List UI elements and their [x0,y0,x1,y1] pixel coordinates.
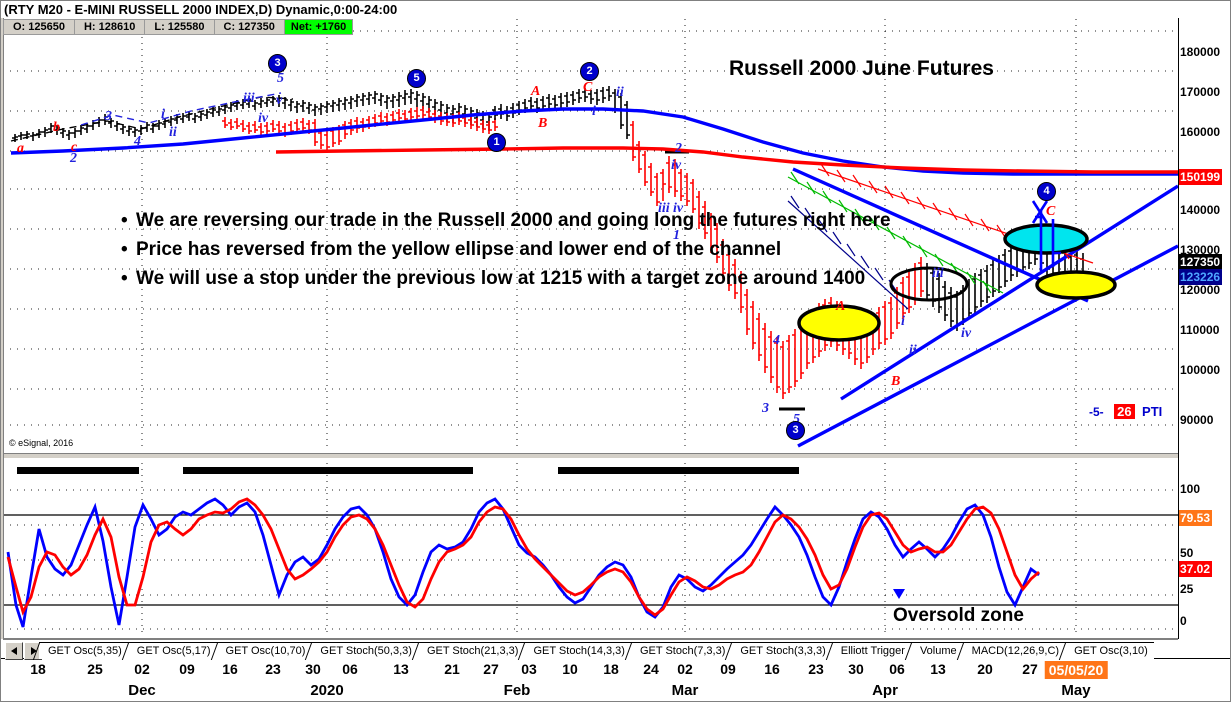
open-value: O: 125650 [4,20,75,34]
price-tick: 110000 [1180,324,1219,336]
oscillator-tick: 50 [1180,547,1193,559]
month-label: Apr [872,682,898,699]
chart-headline: Russell 2000 June Futures [729,57,994,81]
signal-bars [17,467,799,474]
indicator-tab-label: GET Stoch(3,3,3) [740,645,825,657]
elliott-wave-label: i [161,107,165,123]
indicator-tab[interactable]: GET Stoch(7,3,3) [631,642,731,659]
indicator-tab[interactable]: GET Osc(10,70) [217,642,312,659]
date-tick: 25 [87,661,103,677]
price-tick: 180000 [1180,46,1220,58]
price-highlight: 127350 [1178,254,1222,270]
indicator-tab-label: GET Stoch(21,3,3) [427,645,519,657]
commentary-bullet-3: We will use a stop under the previous lo… [136,265,891,293]
date-tick: 24 [643,661,659,677]
date-tick: 21 [444,661,460,677]
month-label: Feb [504,682,531,699]
indicator-tab-label: GET Stoch(14,3,3) [533,645,625,657]
month-label: Mar [672,682,699,699]
cyan-ellipse-target [1005,225,1087,253]
elliott-degree-marker: 4 [1037,182,1056,201]
indicator-tab-label: Elliott Trigger [841,645,905,657]
date-tick: 20 [977,661,993,677]
month-label: Dec [128,682,156,699]
elliott-wave-label: 3 [105,109,112,125]
elliott-wave-label: 4 [134,134,141,150]
high-value: H: 128610 [75,20,145,34]
panel-separator [3,453,1178,459]
date-tick: 02 [134,661,150,677]
elliott-degree-marker: 3 [786,421,805,440]
indicator-tab[interactable]: GET Stoch(14,3,3) [524,642,631,659]
indicator-tab-label: MACD(12,26,9,C) [972,645,1059,657]
price-tick: 90000 [1180,414,1213,426]
price-tick: 100000 [1180,364,1220,376]
date-tick: 09 [720,661,736,677]
date-tick: 23 [265,661,281,677]
net-change-badge: Net: +1760 [285,20,352,34]
date-tick: 13 [393,661,409,677]
date-tick: 16 [222,661,238,677]
price-tick: 120000 [1180,284,1220,296]
left-gutter [1,1,4,639]
date-tick: 18 [603,661,619,677]
elliott-wave-label: i [592,104,596,120]
date-tick: 06 [889,661,905,677]
ohlc-quote-bar: O: 125650 H: 128610 L: 125580 C: 127350 … [3,19,353,35]
indicator-tabs[interactable]: GET Osc(5,35)GET Osc(5,17)GET Osc(10,70)… [39,642,1154,659]
elliott-wave-label: iii [932,266,944,282]
oscillator-tick: 25 [1180,583,1193,595]
indicator-tab[interactable]: Volume [911,642,963,659]
date-tick: 16 [764,661,780,677]
date-tick: 30 [305,661,321,677]
elliott-wave-label: C [583,80,592,96]
elliott-wave-label: 2 [70,151,77,167]
elliott-wave-label: b [53,120,60,136]
oscillator-bottom-border [3,638,1178,640]
pti-indicator: -5- 26 PTI [1089,403,1162,421]
date-tick: 27 [483,661,499,677]
elliott-wave-label: iii [243,91,255,107]
oscillator-highlight: 37.02 [1178,561,1212,577]
elliott-wave-label: a [17,141,24,157]
elliott-wave-label: iv [671,158,681,174]
date-tick: 10 [562,661,578,677]
oscillator-highlight: 79.53 [1178,510,1212,526]
price-highlight: 150199 [1178,169,1222,185]
pti-left-label: -5- [1089,405,1104,419]
pti-label: PTI [1142,404,1162,419]
oscillator-tick: 100 [1180,483,1200,495]
trade-commentary: We are reversing our trade in the Russel… [119,207,891,294]
indicator-tab[interactable]: GET Stoch(21,3,3) [418,642,525,659]
indicator-tab-label: GET Osc(10,70) [226,645,306,657]
indicator-tab[interactable]: GET Osc(5,17) [128,642,217,659]
month-label: 2020 [310,682,343,699]
date-tick: 30 [848,661,864,677]
elliott-wave-label: iv [258,111,268,127]
price-scale[interactable]: 1900001800001700001600001400001300001200… [1178,1,1231,453]
elliott-wave-label: 4 [773,333,780,349]
pti-value: 26 [1114,404,1134,419]
indicator-tab[interactable]: GET Stoch(3,3,3) [731,642,831,659]
indicator-tab-label: GET Osc(3,10) [1074,645,1148,657]
date-axis: 1825020916233006132127031018240209162330… [1,660,1231,702]
elliott-wave-label: 2 [675,141,682,157]
price-tick: 160000 [1180,126,1220,138]
close-value: C: 127350 [215,20,285,34]
date-tick: 18 [30,661,46,677]
date-tick: 02 [677,661,693,677]
indicator-tab-label: GET Stoch(50,3,3) [320,645,412,657]
date-tick: 23 [808,661,824,677]
elliott-wave-label: A [836,299,845,315]
price-tick: 140000 [1180,204,1220,216]
elliott-wave-label: ii [169,125,177,141]
elliott-wave-label: A [531,84,540,100]
elliott-wave-label: ii [616,85,624,101]
chart-application: (RTY M20 - E-MINI RUSSELL 2000 INDEX,D) … [0,0,1231,702]
elliott-wave-label: v [276,93,282,109]
left-arrow-icon [11,647,18,655]
price-highlight: 123226 [1178,269,1222,285]
indicator-tab-label: GET Osc(5,17) [137,645,211,657]
price-tick: 170000 [1180,86,1220,98]
indicator-tab-label: Volume [920,645,957,657]
indicator-tab[interactable]: Elliott Trigger [832,642,911,659]
copyright-watermark: © eSignal, 2016 [9,438,73,448]
elliott-degree-marker: 3 [268,54,287,73]
elliott-wave-label: 3 [762,401,769,417]
indicator-tab[interactable]: GET Stoch(50,3,3) [311,642,418,659]
elliott-wave-label: i [901,314,905,330]
commentary-bullet-2: Price has reversed from the yellow ellip… [136,236,891,264]
chart-title-bar: (RTY M20 - E-MINI RUSSELL 2000 INDEX,D) … [1,1,1231,18]
elliott-wave-label: C [1046,204,1055,220]
oversold-zone-label: Oversold zone [893,605,1024,627]
elliott-wave-label: B [891,374,900,390]
date-tick: 13 [930,661,946,677]
indicator-tab[interactable]: GET Osc(5,35) [39,642,128,659]
date-tick: 03 [521,661,537,677]
axis-divider [1178,1,1179,639]
elliott-wave-label: 5 [277,71,284,87]
elliott-wave-label: iv [961,326,971,342]
date-tick: 09 [179,661,195,677]
indicator-tab[interactable]: GET Osc(3,10) [1065,642,1154,659]
elliott-degree-marker: 5 [407,69,426,88]
oscillator-tick: 0 [1180,615,1187,627]
indicator-tab-label: GET Osc(5,35) [48,645,122,657]
elliott-degree-marker: 1 [487,133,506,152]
yellow-ellipse-right [1037,272,1115,298]
elliott-wave-label: ii [909,343,917,359]
current-date-label: 05/05/20 [1045,661,1108,679]
scroll-left-button[interactable] [5,642,23,660]
indicator-tab-label: GET Stoch(7,3,3) [640,645,725,657]
indicator-tab[interactable]: MACD(12,26,9,C) [963,642,1065,659]
date-tick: 27 [1022,661,1038,677]
elliott-degree-marker: 2 [580,62,599,81]
month-label: May [1061,682,1090,699]
commentary-bullet-1: We are reversing our trade in the Russel… [136,207,891,235]
oscillator-scale[interactable]: 100755025079.5337.02 [1178,457,1231,639]
low-value: L: 125580 [145,20,214,34]
elliott-wave-label: B [538,116,547,132]
date-tick: 06 [342,661,358,677]
